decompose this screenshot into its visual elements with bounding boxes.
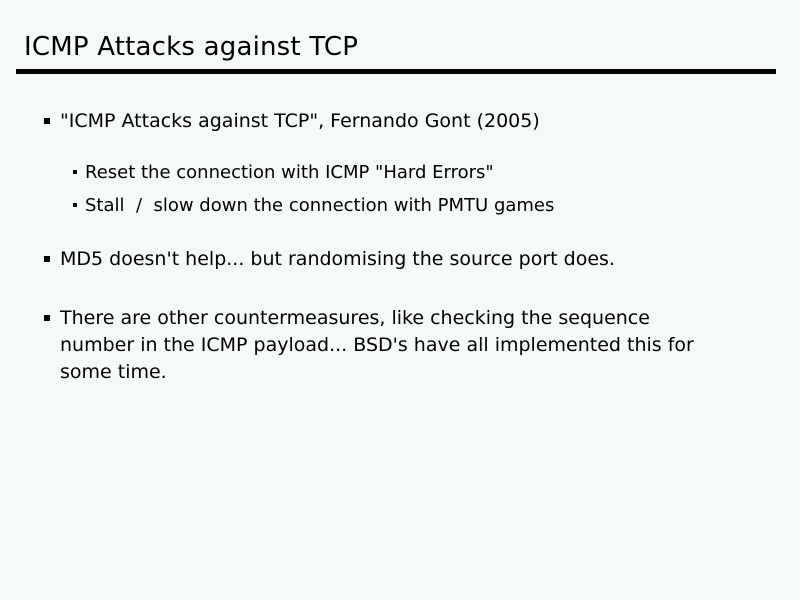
list-item-label: Reset the connection with ICMP "Hard Err… bbox=[85, 160, 728, 186]
square-bullet-icon bbox=[44, 315, 50, 321]
list-item: Stall / slow down the connection with PM… bbox=[0, 193, 800, 219]
list-item-label: "ICMP Attacks against TCP", Fernando Gon… bbox=[60, 108, 728, 135]
list-item-label: Stall / slow down the connection with PM… bbox=[85, 193, 728, 219]
list-item: Reset the connection with ICMP "Hard Err… bbox=[0, 160, 800, 186]
list-item: There are other countermeasures, like ch… bbox=[0, 305, 800, 386]
sub-list: Reset the connection with ICMP "Hard Err… bbox=[0, 160, 800, 219]
list-item-label: There are other countermeasures, like ch… bbox=[60, 305, 728, 386]
slide-title-block: ICMP Attacks against TCP bbox=[16, 30, 784, 74]
title-divider bbox=[16, 69, 776, 74]
spacer bbox=[0, 273, 800, 305]
spacer bbox=[0, 135, 800, 160]
square-bullet-icon bbox=[44, 256, 50, 262]
slide-body: "ICMP Attacks against TCP", Fernando Gon… bbox=[0, 108, 800, 386]
spacer bbox=[0, 219, 800, 246]
small-square-bullet-icon bbox=[73, 170, 77, 174]
list-item: "ICMP Attacks against TCP", Fernando Gon… bbox=[0, 108, 800, 135]
square-bullet-icon bbox=[44, 118, 50, 124]
small-square-bullet-icon bbox=[73, 203, 77, 207]
slide: ICMP Attacks against TCP "ICMP Attacks a… bbox=[0, 0, 800, 600]
list-item: MD5 doesn't help... but randomising the … bbox=[0, 246, 800, 273]
page-title: ICMP Attacks against TCP bbox=[16, 30, 784, 64]
list-item-label: MD5 doesn't help... but randomising the … bbox=[60, 246, 728, 273]
